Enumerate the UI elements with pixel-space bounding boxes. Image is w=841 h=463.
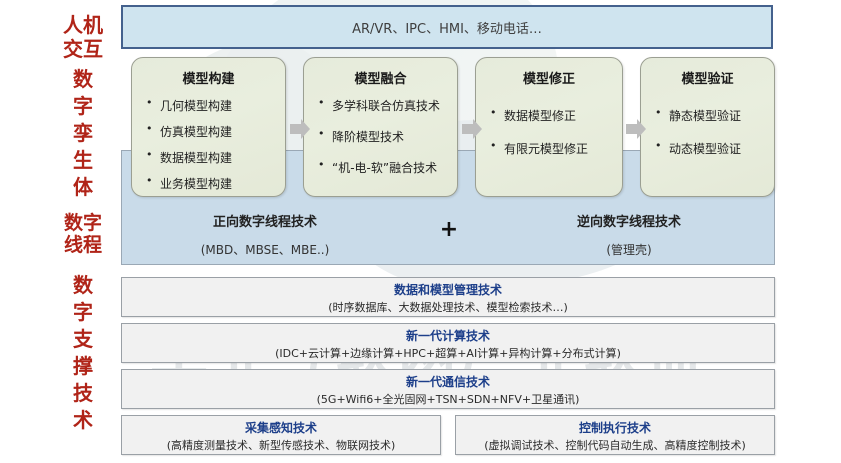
support-row-sensing-acquisition: 采集感知技术 (高精度测量技术、新型传感技术、物联网技术) [121,415,441,455]
rail-label-digital-twin: 数 字 孪 生 体 [54,66,112,201]
model-box-validation: 模型验证 静态模型验证 动态模型验证 [640,57,775,197]
arrow-right-icon [461,118,483,140]
support-row-title: 新一代通信技术 [122,375,774,391]
support-row-subtitle: (时序数据库、大数据处理技术、模型检索技术…) [122,301,774,315]
hmi-banner-text: AR/VR、IPC、HMI、移动电话… [352,18,542,37]
support-row-title: 新一代计算技术 [122,329,774,345]
list-item: “机-电-软”融合技术 [318,159,451,176]
diagram-root: 工业互联网产业联盟 Alliance of Industrial Interne… [0,0,841,463]
digital-thread-content: 正向数字线程技术 (MBD、MBSE、MBE..) + 逆向数字线程技术 (管理… [122,211,776,266]
support-row-subtitle: (虚拟调试技术、控制代码自动生成、高精度控制技术) [456,439,774,453]
list-item: 几何模型构建 [146,97,279,114]
support-row-subtitle: (IDC+云计算+边缘计算+HPC+超算+AI计算+异构计算+分布式计算) [122,347,774,361]
list-item: 有限元模型修正 [490,140,616,157]
model-box-correction-list: 数据模型修正 有限元模型修正 [476,107,622,157]
reverse-thread-title: 逆向数字线程技术 [504,211,754,230]
model-box-construction-title: 模型构建 [132,68,285,87]
support-row-title: 数据和模型管理技术 [122,283,774,299]
model-box-correction-title: 模型修正 [476,68,622,87]
model-lifecycle-row: 模型构建 几何模型构建 仿真模型构建 数据模型构建 业务模型构建 模型融合 多学… [131,57,775,197]
list-item: 降阶模型技术 [318,128,451,145]
forward-thread-title: 正向数字线程技术 [140,211,390,230]
list-item: 仿真模型构建 [146,123,279,140]
forward-thread-subtitle: (MBD、MBSE、MBE..) [140,241,390,258]
rail-label-human-machine-interaction: 人机 交互 [48,14,118,61]
rail-label-digital-thread: 数字 线程 [48,212,118,257]
model-box-fusion-list: 多学科联合仿真技术 降阶模型技术 “机-电-软”融合技术 [304,97,457,176]
model-box-correction: 模型修正 数据模型修正 有限元模型修正 [475,57,623,197]
model-box-fusion: 模型融合 多学科联合仿真技术 降阶模型技术 “机-电-软”融合技术 [303,57,458,197]
list-item: 动态模型验证 [655,140,768,157]
support-row-title: 采集感知技术 [122,421,440,437]
support-row-next-gen-computing: 新一代计算技术 (IDC+云计算+边缘计算+HPC+超算+AI计算+异构计算+分… [121,323,775,363]
support-row-next-gen-communication: 新一代通信技术 (5G+Wifi6+全光固网+TSN+SDN+NFV+卫星通讯) [121,369,775,409]
reverse-thread-block: 逆向数字线程技术 (管理壳) [504,211,754,258]
support-row-subtitle: (5G+Wifi6+全光固网+TSN+SDN+NFV+卫星通讯) [122,393,774,407]
support-row-title: 控制执行技术 [456,421,774,437]
list-item: 数据模型构建 [146,149,279,166]
reverse-thread-subtitle: (管理壳) [504,241,754,258]
support-technology-stack: 数据和模型管理技术 (时序数据库、大数据处理技术、模型检索技术…) 新一代计算技… [121,277,775,461]
support-row-data-model-management: 数据和模型管理技术 (时序数据库、大数据处理技术、模型检索技术…) [121,277,775,317]
list-item: 多学科联合仿真技术 [318,97,451,114]
diagram-content: AR/VR、IPC、HMI、移动电话… 正向数字线程技术 (MBD、MBSE、M… [121,0,779,463]
model-box-validation-list: 静态模型验证 动态模型验证 [641,107,774,157]
model-box-construction-list: 几何模型构建 仿真模型构建 数据模型构建 业务模型构建 [132,97,285,192]
model-box-fusion-title: 模型融合 [304,68,457,87]
support-row-pair: 采集感知技术 (高精度测量技术、新型传感技术、物联网技术) 控制执行技术 (虚拟… [121,415,775,461]
forward-thread-block: 正向数字线程技术 (MBD、MBSE、MBE..) [140,211,390,258]
hmi-banner: AR/VR、IPC、HMI、移动电话… [121,5,773,49]
model-box-construction: 模型构建 几何模型构建 仿真模型构建 数据模型构建 业务模型构建 [131,57,286,197]
support-row-subtitle: (高精度测量技术、新型传感技术、物联网技术) [122,439,440,453]
thread-plus-symbol: + [423,217,475,242]
list-item: 业务模型构建 [146,175,279,192]
layer-rail: 人机 交互 数 字 孪 生 体 数字 线程 数 字 支 撑 技 术 [0,0,118,463]
arrow-right-icon [289,118,311,140]
list-item: 数据模型修正 [490,107,616,124]
model-box-validation-title: 模型验证 [641,68,774,87]
support-row-control-execution: 控制执行技术 (虚拟调试技术、控制代码自动生成、高精度控制技术) [455,415,775,455]
list-item: 静态模型验证 [655,107,768,124]
rail-label-digital-support-tech: 数 字 支 撑 技 术 [54,272,112,434]
arrow-right-icon [625,118,647,140]
